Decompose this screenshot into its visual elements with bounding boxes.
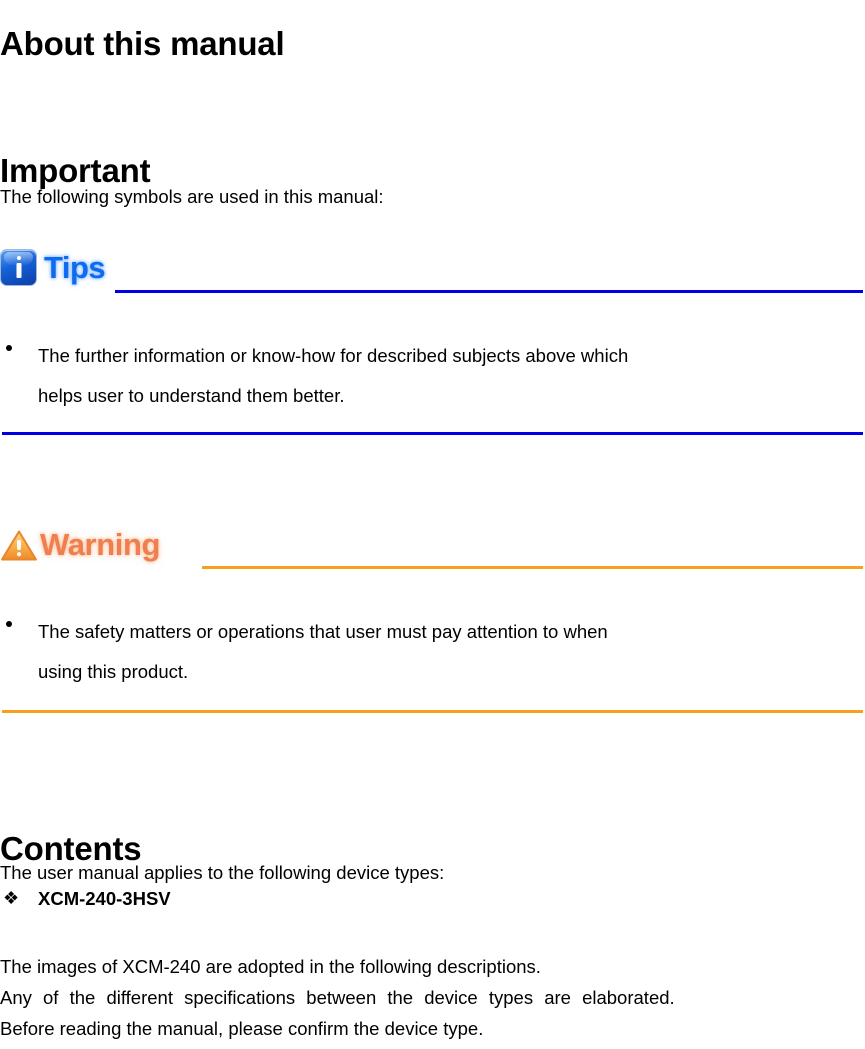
warning-rule-bottom — [2, 710, 863, 713]
closing-paragraph-line-1: The images of XCM-240 are adopted in the… — [0, 951, 863, 982]
warning-rule-top — [202, 566, 863, 569]
bullet-dot-icon — [6, 621, 12, 627]
contents-intro-text: The user manual applies to the following… — [0, 860, 444, 885]
device-type-name: XCM-240-3HSV — [38, 888, 171, 909]
tips-bullet-line-2: helps user to understand them better. — [38, 376, 865, 416]
info-icon-dot — [17, 256, 21, 260]
closing-paragraph: The images of XCM-240 are adopted in the… — [0, 951, 863, 1044]
warning-triangle-icon — [0, 529, 38, 562]
warning-bullet-line-1: The safety matters or operations that us… — [38, 612, 865, 652]
diamond-bullet-icon: ❖ — [3, 885, 19, 911]
manual-page: About this manual Important The followin… — [0, 0, 865, 1049]
tips-bullet-line-1: The further information or know-how for … — [38, 336, 865, 376]
tips-bullet-block: The further information or know-how for … — [0, 336, 865, 416]
tips-rule-bottom — [2, 432, 863, 435]
warning-label: Warning — [40, 528, 160, 562]
closing-paragraph-line-3: Before reading the manual, please confir… — [0, 1013, 863, 1044]
tips-rule-top — [115, 290, 863, 293]
tips-banner: Tips — [0, 249, 105, 286]
important-intro-text: The following symbols are used in this m… — [0, 184, 384, 209]
closing-paragraph-line-2: Any of the different specifications betw… — [0, 982, 863, 1013]
page-title: About this manual — [0, 24, 284, 64]
warning-bullet-block: The safety matters or operations that us… — [0, 612, 865, 692]
warning-bullet-text: The safety matters or operations that us… — [38, 612, 865, 692]
device-type-list: ❖ XCM-240-3HSV — [0, 886, 865, 914]
info-icon — [0, 249, 37, 286]
list-item: ❖ XCM-240-3HSV — [0, 886, 865, 914]
list-item: The safety matters or operations that us… — [0, 612, 865, 692]
tips-bullet-text: The further information or know-how for … — [38, 336, 865, 416]
warning-banner: Warning — [0, 528, 160, 562]
warning-bullet-line-2: using this product. — [38, 652, 865, 692]
tips-label: Tips — [44, 251, 105, 285]
list-item: The further information or know-how for … — [0, 336, 865, 416]
info-icon-stem — [16, 263, 21, 278]
bullet-dot-icon — [6, 345, 12, 351]
